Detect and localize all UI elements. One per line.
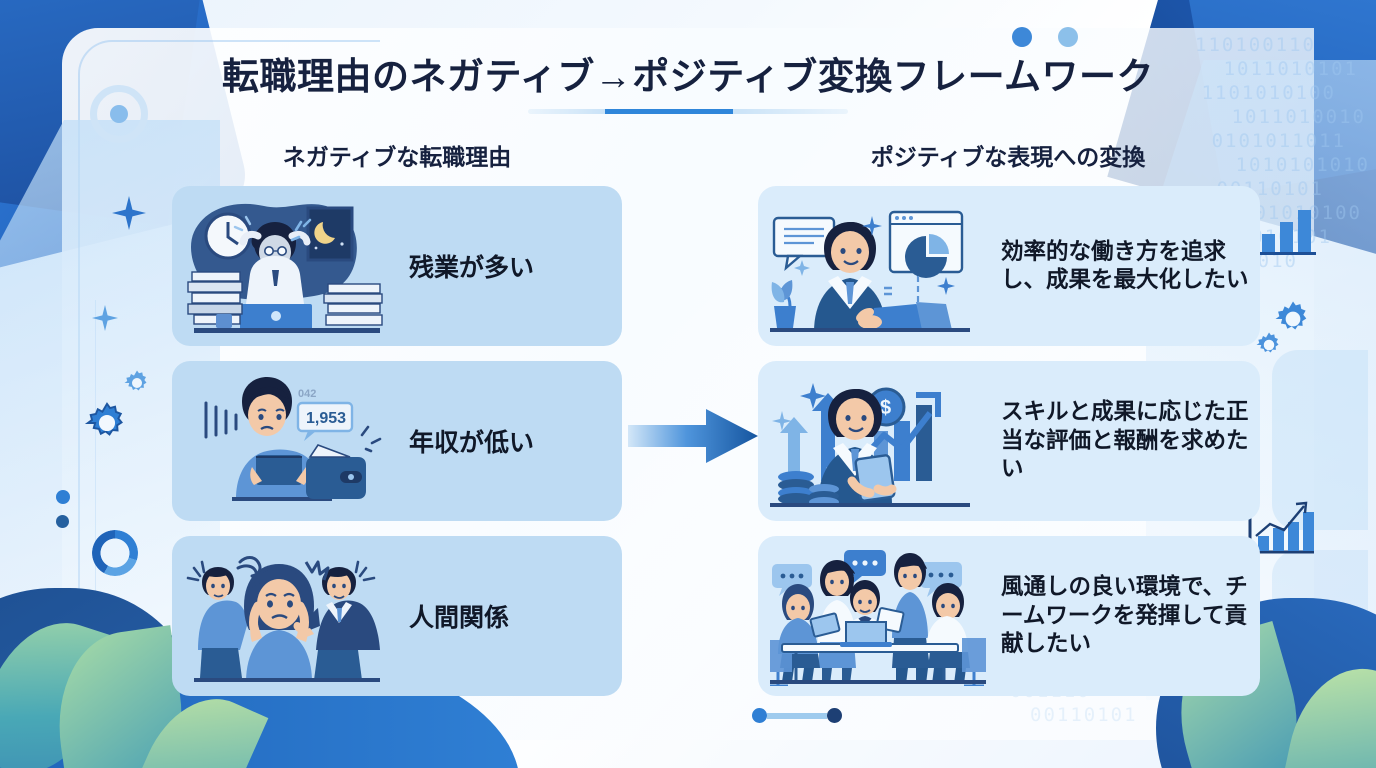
workplace-conflict-stress-icon: [180, 546, 395, 686]
efficient-worker-with-chart-icon: [766, 196, 991, 336]
infographic-canvas: 110100110 1011010101 1101010100 10110100…: [0, 0, 1376, 768]
salary-growth-chart-icon: $: [766, 371, 991, 511]
negative-card-relationships[interactable]: 人間関係: [172, 536, 622, 696]
positive-card-label-1: 効率的な働き方を追求し、成果を最大化したい: [991, 238, 1260, 295]
negative-card-overtime[interactable]: 残業が多い: [172, 186, 622, 346]
column-heading-positive: ポジティブな表現への変換: [758, 138, 1258, 172]
positive-card-label-2: スキルと成果に応じた正当な評価と報酬を求めたい: [991, 398, 1260, 483]
negative-card-low-salary[interactable]: 042 1,953 年収が低い: [172, 361, 622, 521]
team-collaboration-meeting-icon: [766, 546, 991, 686]
content-layer: 転職理由のネガティブ→ポジティブ変換フレームワーク ネガティブな転職理由 ポジテ…: [0, 0, 1376, 768]
column-heading-negative: ネガティブな転職理由: [172, 138, 622, 172]
transformation-arrow-icon: [628, 405, 758, 467]
positive-card-efficiency[interactable]: 効率的な働き方を追求し、成果を最大化したい: [758, 186, 1260, 346]
positive-card-compensation[interactable]: $: [758, 361, 1260, 521]
overworked-person-at-night-desk-icon: [180, 196, 395, 336]
negative-card-label-2: 年収が低い: [395, 423, 622, 459]
negative-card-label-3: 人間関係: [395, 598, 622, 634]
title-underline: [528, 109, 848, 114]
empty-wallet-low-salary-icon: 042 1,953: [180, 371, 395, 511]
wallet-amount-text: 1,953: [306, 410, 346, 427]
page-title: 転職理由のネガティブ→ポジティブ変換フレームワーク: [0, 46, 1376, 100]
positive-card-teamwork[interactable]: 風通しの良い環境で、チームワークを発揮して貢献したい: [758, 536, 1260, 696]
negative-card-label-1: 残業が多い: [395, 248, 622, 284]
positive-card-label-3: 風通しの良い環境で、チームワークを発揮して貢献したい: [991, 573, 1260, 658]
wallet-counter-text: 042: [298, 388, 316, 400]
